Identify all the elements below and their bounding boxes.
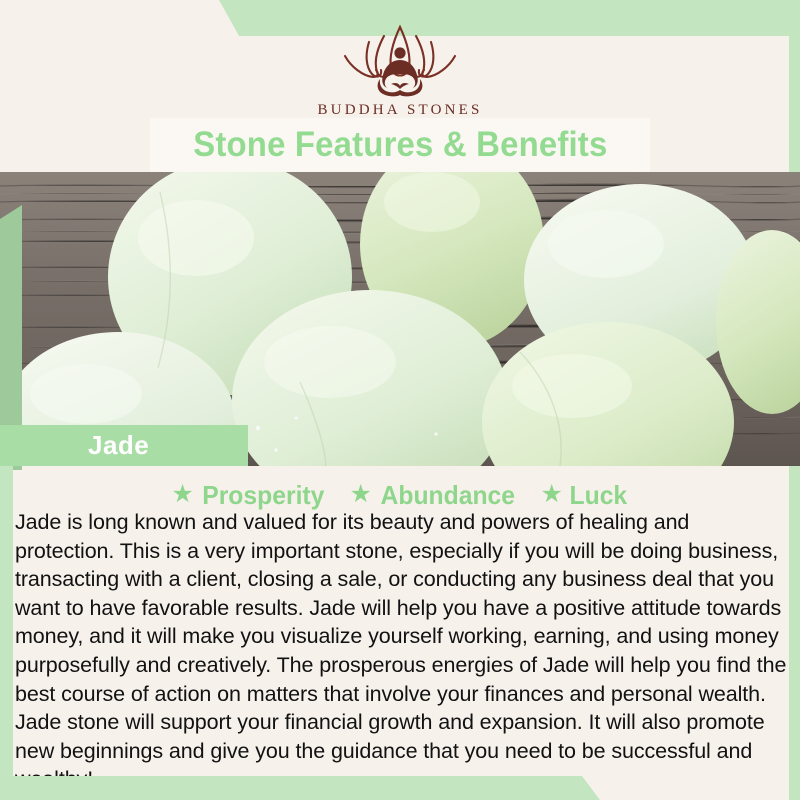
benefit-label: Abundance bbox=[380, 480, 514, 511]
stone-name-banner: Jade bbox=[0, 425, 248, 466]
benefit-item-abundance: ★ Abundance bbox=[349, 480, 518, 511]
description-text: Jade is long known and valued for its be… bbox=[15, 508, 787, 794]
right-green-strip-lower bbox=[789, 470, 800, 800]
star-icon: ★ bbox=[171, 482, 193, 507]
star-icon: ★ bbox=[540, 482, 562, 507]
page-title: Stone Features & Benefits bbox=[193, 125, 607, 165]
title-banner: Stone Features & Benefits bbox=[150, 118, 650, 172]
star-icon: ★ bbox=[349, 482, 371, 507]
brand-name: BUDDHA STONES bbox=[317, 102, 482, 119]
lotus-meditation-logo-icon bbox=[325, 22, 475, 98]
infographic-page: BUDDHA STONES Stone Features & Benefits bbox=[0, 0, 800, 800]
benefit-item-prosperity: ★ Prosperity bbox=[171, 480, 327, 511]
stone-name: Jade bbox=[88, 430, 149, 461]
brand-header: BUDDHA STONES bbox=[0, 0, 800, 120]
benefit-item-luck: ★ Luck bbox=[540, 480, 628, 511]
left-green-strip-lower bbox=[0, 466, 13, 800]
stone-photo bbox=[0, 172, 800, 466]
benefit-label: Prosperity bbox=[202, 480, 324, 511]
logo-wrap: BUDDHA STONES bbox=[0, 22, 800, 119]
benefits-row: ★ Prosperity ★ Abundance ★ Luck bbox=[0, 480, 800, 511]
benefit-label: Luck bbox=[569, 480, 627, 511]
